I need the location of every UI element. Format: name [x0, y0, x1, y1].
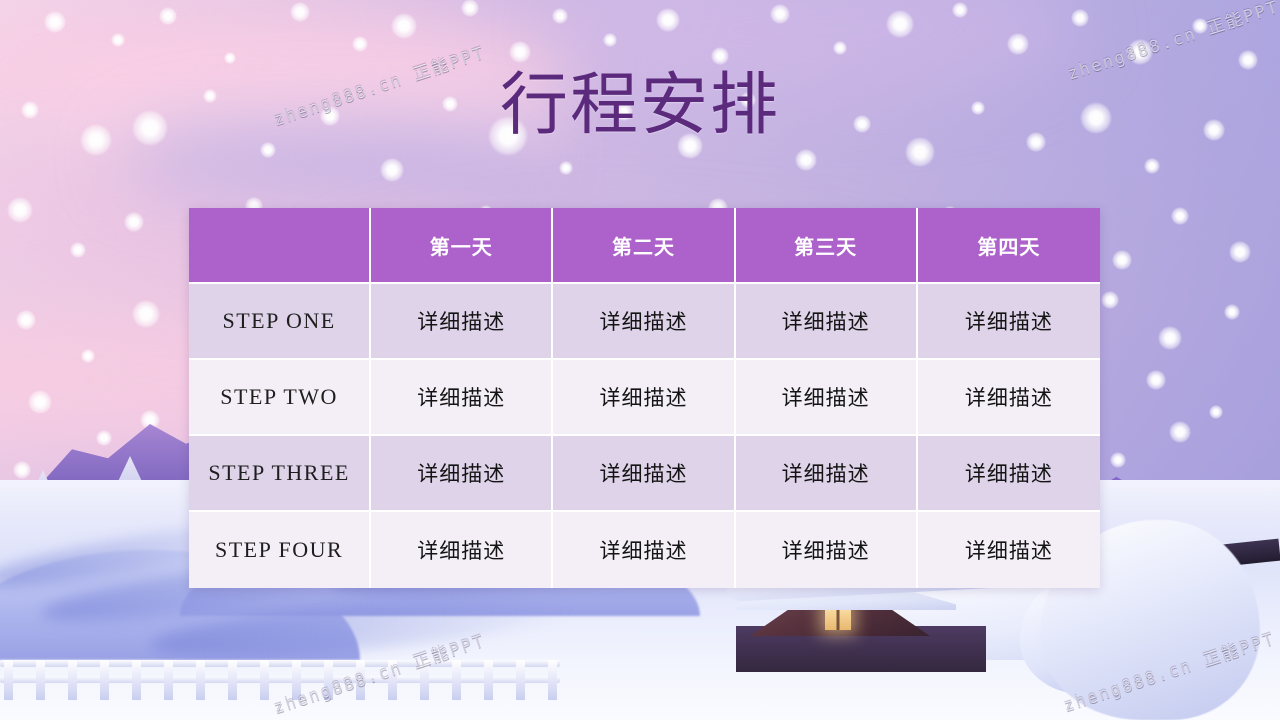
table-cell: 详细描述 — [918, 512, 1100, 588]
table-cell: 详细描述 — [553, 360, 735, 436]
fence-post — [228, 660, 237, 700]
table-row: STEP FOUR 详细描述 详细描述 详细描述 详细描述 — [189, 512, 1100, 588]
table-header-corner — [189, 208, 371, 284]
page-title: 行程安排 — [0, 72, 1280, 140]
fence-post — [164, 660, 173, 700]
table-header-row: 第一天 第二天 第三天 第四天 — [189, 208, 1100, 284]
schedule-table-body: STEP ONE 详细描述 详细描述 详细描述 详细描述 STEP TWO 详细… — [189, 284, 1100, 588]
table-row: STEP THREE 详细描述 详细描述 详细描述 详细描述 — [189, 436, 1100, 512]
step-label: STEP ONE — [189, 284, 371, 360]
fence-post — [484, 660, 493, 700]
table-cell: 详细描述 — [371, 284, 553, 360]
step-label: STEP TWO — [189, 360, 371, 436]
table-cell: 详细描述 — [371, 360, 553, 436]
fence-post — [548, 660, 557, 700]
schedule-table-head: 第一天 第二天 第三天 第四天 — [189, 208, 1100, 284]
fence-rail — [0, 676, 560, 683]
fence-post — [132, 660, 141, 700]
table-cell: 详细描述 — [371, 512, 553, 588]
fence-post — [388, 660, 397, 700]
table-cell: 详细描述 — [736, 360, 918, 436]
table-cell: 详细描述 — [736, 512, 918, 588]
fence-post — [36, 660, 45, 700]
fence-post — [4, 660, 13, 700]
fence-post — [292, 660, 301, 700]
fence-post — [324, 660, 333, 700]
fence-post — [420, 660, 429, 700]
table-cell: 详细描述 — [553, 284, 735, 360]
table-cell: 详细描述 — [736, 436, 918, 512]
snow-fence — [0, 654, 560, 700]
table-cell: 详细描述 — [371, 436, 553, 512]
fence-post — [356, 660, 365, 700]
table-cell: 详细描述 — [918, 284, 1100, 360]
table-cell: 详细描述 — [553, 512, 735, 588]
table-cell: 详细描述 — [918, 360, 1100, 436]
fence-post — [452, 660, 461, 700]
table-header-day-3: 第三天 — [736, 208, 918, 284]
table-cell: 详细描述 — [918, 436, 1100, 512]
fence-post — [516, 660, 525, 700]
table-header-day-2: 第二天 — [553, 208, 735, 284]
table-row: STEP TWO 详细描述 详细描述 详细描述 详细描述 — [189, 360, 1100, 436]
table-header-day-1: 第一天 — [371, 208, 553, 284]
fence-post — [260, 660, 269, 700]
fence-post — [100, 660, 109, 700]
table-row: STEP ONE 详细描述 详细描述 详细描述 详细描述 — [189, 284, 1100, 360]
slide-canvas: 行程安排 第一天 第二天 第三天 第四天 STEP ONE 详细描述 详细描述 … — [0, 0, 1280, 720]
step-label: STEP FOUR — [189, 512, 371, 588]
fence-rail — [0, 660, 560, 667]
schedule-table: 第一天 第二天 第三天 第四天 STEP ONE 详细描述 详细描述 详细描述 … — [189, 208, 1100, 588]
step-label: STEP THREE — [189, 436, 371, 512]
fence-post — [68, 660, 77, 700]
table-cell: 详细描述 — [736, 284, 918, 360]
table-header-day-4: 第四天 — [918, 208, 1100, 284]
schedule-table-container: 第一天 第二天 第三天 第四天 STEP ONE 详细描述 详细描述 详细描述 … — [189, 208, 1100, 588]
fence-post — [196, 660, 205, 700]
table-cell: 详细描述 — [553, 436, 735, 512]
